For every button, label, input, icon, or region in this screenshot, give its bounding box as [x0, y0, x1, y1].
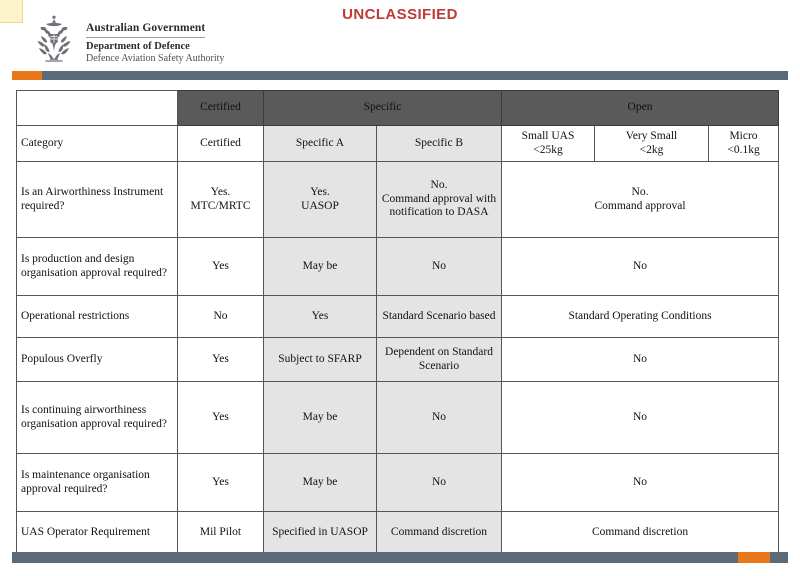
government-branding: Australian Government Department of Defe… [28, 14, 224, 65]
table-row: Operational restrictions No Yes Standard… [17, 296, 779, 338]
group-header-blank [17, 91, 178, 126]
row-value-specific-b: Dependent on Standard Scenario [377, 338, 502, 382]
row-label: Is production and design organisation ap… [17, 238, 178, 296]
table-row: UAS Operator Requirement Mil Pilot Speci… [17, 512, 779, 554]
row-value-specific-a: Yes. UASOP [264, 162, 377, 238]
row-value-specific-b: Command discretion [377, 512, 502, 554]
row-value-specific-b: Standard Scenario based [377, 296, 502, 338]
table-group-header-row: Certified Specific Open [17, 91, 779, 126]
category-certified: Certified [178, 126, 264, 162]
row-label: Populous Overfly [17, 338, 178, 382]
bottom-accent-orange-segment [738, 552, 770, 563]
row-value-specific-b: No [377, 454, 502, 512]
australian-government-label: Australian Government [86, 22, 205, 38]
row-value-certified: No [178, 296, 264, 338]
government-wordmark: Australian Government Department of Defe… [86, 14, 224, 65]
australian-coat-of-arms-icon [28, 14, 80, 62]
row-value-certified: Yes [178, 454, 264, 512]
row-value-open: No [502, 338, 779, 382]
row-value-open: No [502, 238, 779, 296]
row-value-specific-b: No [377, 382, 502, 454]
row-value-specific-a: Yes [264, 296, 377, 338]
group-header-open: Open [502, 91, 779, 126]
row-value-certified: Yes [178, 238, 264, 296]
row-value-certified: Yes [178, 382, 264, 454]
row-label: Is continuing airworthiness organisation… [17, 382, 178, 454]
uas-categorisation-table-container: Certified Specific Open Category Certifi… [16, 90, 778, 554]
group-header-certified: Certified [178, 91, 264, 126]
row-label: UAS Operator Requirement [17, 512, 178, 554]
table-row: Populous Overfly Yes Subject to SFARP De… [17, 338, 779, 382]
group-header-specific: Specific [264, 91, 502, 126]
row-value-open: Command discretion [502, 512, 779, 554]
page-header: UNCLASSIFIED [0, 0, 800, 66]
row-value-certified: Yes. MTC/MRTC [178, 162, 264, 238]
row-value-certified: Mil Pilot [178, 512, 264, 554]
table-row: Is an Airworthiness Instrument required?… [17, 162, 779, 238]
row-value-specific-b: No [377, 238, 502, 296]
row-value-specific-a: Specified in UASOP [264, 512, 377, 554]
row-label: Is maintenance organisation approval req… [17, 454, 178, 512]
row-value-specific-a: May be [264, 382, 377, 454]
department-of-defence-label: Department of Defence [86, 40, 224, 53]
row-value-certified: Yes [178, 338, 264, 382]
table-row: Is maintenance organisation approval req… [17, 454, 779, 512]
table-row: Is production and design organisation ap… [17, 238, 779, 296]
table-category-row: Category Certified Specific A Specific B… [17, 126, 779, 162]
bottom-accent-bar [12, 552, 788, 563]
dasa-label: Defence Aviation Safety Authority [86, 53, 224, 65]
row-label: Is an Airworthiness Instrument required? [17, 162, 178, 238]
category-micro: Micro <0.1kg [709, 126, 779, 162]
category-label: Category [17, 126, 178, 162]
row-value-open: No [502, 382, 779, 454]
row-value-specific-b: No. Command approval with notification t… [377, 162, 502, 238]
row-value-specific-a: May be [264, 238, 377, 296]
row-value-specific-a: May be [264, 454, 377, 512]
top-accent-orange-segment [12, 71, 42, 80]
row-value-specific-a: Subject to SFARP [264, 338, 377, 382]
table-row: Is continuing airworthiness organisation… [17, 382, 779, 454]
category-small-uas: Small UAS <25kg [502, 126, 595, 162]
row-value-open: No. Command approval [502, 162, 779, 238]
top-accent-bar [12, 71, 788, 80]
row-label: Operational restrictions [17, 296, 178, 338]
category-very-small: Very Small <2kg [595, 126, 709, 162]
uas-categorisation-table: Certified Specific Open Category Certifi… [16, 90, 779, 554]
row-value-open: No [502, 454, 779, 512]
category-specific-a: Specific A [264, 126, 377, 162]
category-specific-b: Specific B [377, 126, 502, 162]
row-value-open: Standard Operating Conditions [502, 296, 779, 338]
